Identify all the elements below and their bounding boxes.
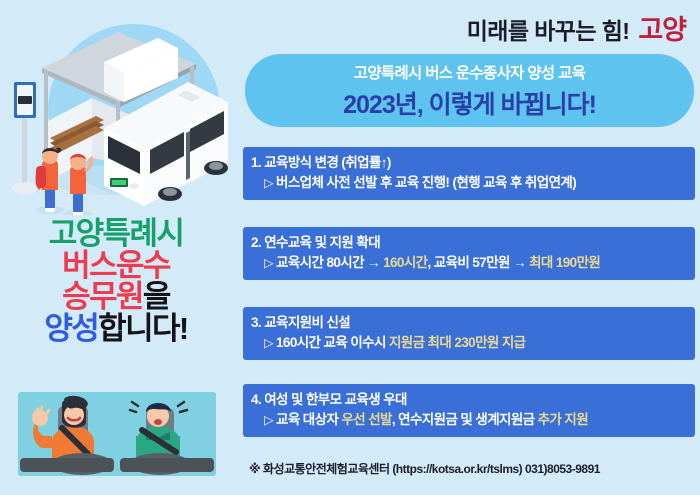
bus-stop-illustration: [0, 10, 232, 215]
info-card: 3. 교육지원비 신설 ▷160시간 교육 이수시 지원금 최대 230만원 지…: [243, 307, 695, 360]
info-card-body: ▷교육시간 80시간 → 160시간, 교육비 57만원 → 최대 190만원: [251, 253, 695, 274]
info-card-body-text: 버스업체 사전 선발 후 교육 진행! (현행 교육 후 취업연계): [276, 175, 576, 190]
info-card-title: 4. 여성 및 한부모 교육생 우대: [251, 390, 695, 410]
bus-stop-artwork: [0, 10, 232, 215]
plain-text: 교육 대상자: [276, 412, 341, 427]
plain-text: , 교육비 57만원 →: [427, 255, 529, 270]
info-card-title: 2. 연수교육 및 지원 확대: [251, 233, 695, 253]
triangle-marker-icon: ▷: [264, 413, 273, 427]
plain-text: , 연수지원금 및 생계지원금: [392, 412, 538, 427]
headline-line-4: 양성합니다!: [0, 313, 232, 345]
right-content-column: 고양특례시 버스 운수종사자 양성 교육 2023년, 이렇게 바뀝니다! 1.…: [236, 0, 700, 495]
info-card-body: ▷교육 대상자 우선 선발, 연수지원금 및 생계지원금 추가 지원: [251, 410, 695, 431]
plain-text: 160시간 교육 이수시: [276, 335, 389, 350]
info-card-body-text: 교육 대상자 우선 선발, 연수지원금 및 생계지원금 추가 지원: [276, 412, 588, 427]
info-card-body: ▷160시간 교육 이수시 지원금 최대 230만원 지급: [251, 333, 695, 354]
info-card-body: ▷버스업체 사전 선발 후 교육 진행! (현행 교육 후 취업연계): [251, 173, 695, 194]
footer-note: ※ 화성교통안전체험교육센터 (https://kotsa.or.kr/tslm…: [249, 460, 600, 477]
bus-stop-sign-icon: [12, 82, 38, 194]
headline-line-3: 승무원을: [0, 281, 232, 313]
headline-line-3-part-a: 승무원: [62, 279, 143, 314]
poster-root: 미래를 바꾸는 힘! 고양: [0, 0, 700, 495]
info-card-body-text: 교육시간 80시간 → 160시간, 교육비 57만원 → 최대 190만원: [276, 255, 600, 270]
info-card-title: 3. 교육지원비 신설: [251, 313, 695, 333]
header-subtitle: 고양특례시 버스 운수종사자 양성 교육: [354, 61, 585, 83]
highlighted-text: 지원금 최대 230만원 지급: [389, 335, 526, 350]
headline-line-4-part-b: 합니다!: [98, 311, 187, 346]
header-banner: 고양특례시 버스 운수종사자 양성 교육 2023년, 이렇게 바뀝니다!: [245, 54, 694, 127]
info-card: 4. 여성 및 한부모 교육생 우대 ▷교육 대상자 우선 선발, 연수지원금 …: [243, 384, 695, 437]
info-card-body-text: 160시간 교육 이수시 지원금 최대 230만원 지급: [276, 335, 525, 350]
headline-line-4-part-a: 양성: [44, 311, 98, 346]
highlighted-text: 우선 선발: [341, 412, 391, 427]
highlighted-text: 160시간: [383, 255, 427, 270]
bus-drivers-illustration: [18, 392, 216, 476]
info-card: 2. 연수교육 및 지원 확대 ▷교육시간 80시간 → 160시간, 교육비 …: [243, 227, 695, 280]
plain-text: 버스업체 사전 선발 후 교육 진행! (현행 교육 후 취업연계): [276, 175, 576, 190]
info-card: 1. 교육방식 변경 (취업률↑) ▷버스업체 사전 선발 후 교육 진행! (…: [243, 147, 695, 200]
triangle-marker-icon: ▷: [264, 336, 273, 350]
highlighted-text: 최대 190만원: [529, 255, 600, 270]
highlighted-text: 추가 지원: [538, 412, 588, 427]
triangle-marker-icon: ▷: [264, 176, 273, 190]
info-card-title: 1. 교육방식 변경 (취업률↑): [251, 153, 695, 173]
drivers-artwork: [18, 392, 216, 476]
header-title: 2023년, 이렇게 바뀝니다!: [343, 85, 596, 121]
main-headline: 고양특례시 버스운수 승무원을 양성합니다!: [0, 218, 232, 344]
plain-text: 교육시간 80시간 →: [276, 255, 383, 270]
headline-line-1: 고양특례시: [0, 218, 232, 250]
headline-line-3-part-b: 을: [143, 279, 170, 314]
headline-line-2: 버스운수: [0, 250, 232, 282]
triangle-marker-icon: ▷: [264, 256, 273, 270]
